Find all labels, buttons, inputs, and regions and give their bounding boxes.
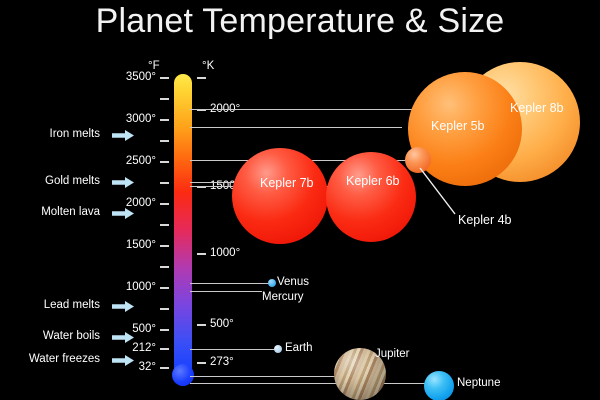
label-kepler-7b: Kepler 7b xyxy=(260,176,314,190)
label-neptune: Neptune xyxy=(457,377,500,389)
label-mercury: Mercury xyxy=(262,291,304,303)
infographic-canvas: Planet Temperature & Size °F °K 3500° 30… xyxy=(0,0,600,400)
label-jupiter: Jupiter xyxy=(375,348,410,360)
label-earth: Earth xyxy=(285,342,313,354)
label-kepler-6b: Kepler 6b xyxy=(346,174,400,188)
label-kepler-5b: Kepler 5b xyxy=(431,119,485,133)
label-kepler-4b: Kepler 4b xyxy=(458,213,512,227)
label-venus: Venus xyxy=(277,276,309,288)
leader-line-kepler-4b-diagonal xyxy=(0,0,600,400)
label-kepler-8b: Kepler 8b xyxy=(510,101,564,115)
